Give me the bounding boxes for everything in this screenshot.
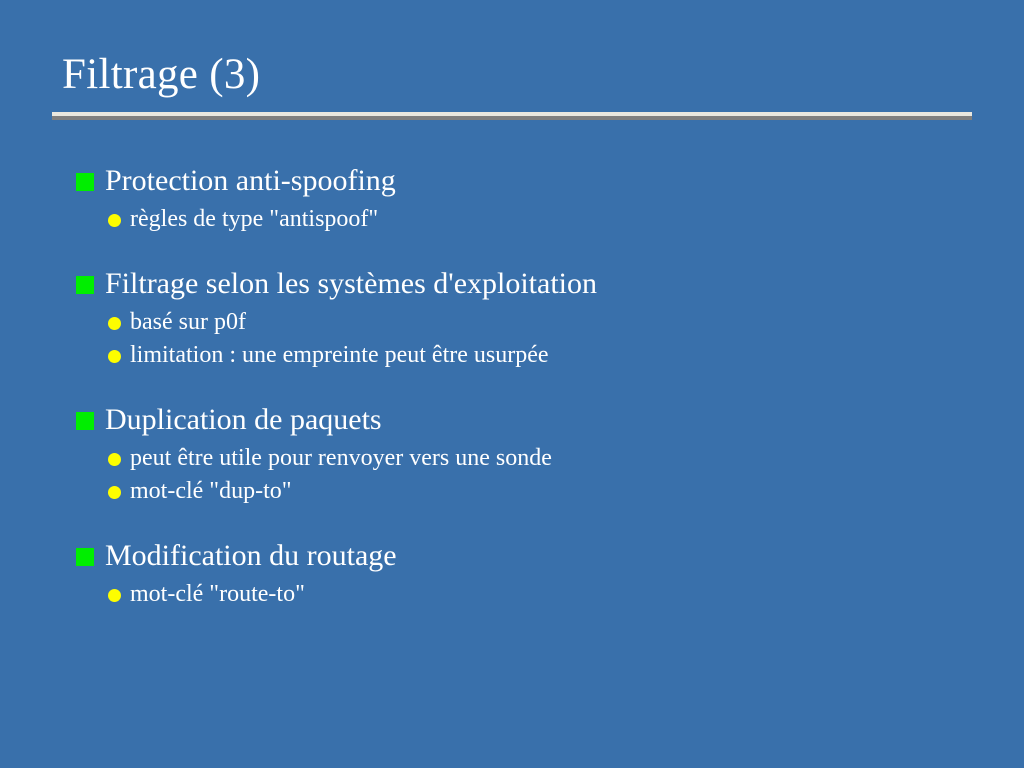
yellow-dot-bullet-icon xyxy=(108,453,121,466)
yellow-dot-bullet-icon xyxy=(108,589,121,602)
level2-bullet-item: règles de type "antispoof" xyxy=(76,203,996,236)
level1-bullet-label: Duplication de paquets xyxy=(105,399,382,440)
level2-bullet-list: règles de type "antispoof" xyxy=(76,203,996,236)
slide-content: Protection anti-spoofing règles de type … xyxy=(76,160,996,611)
presentation-slide: Filtrage (3) Protection anti-spoofing rè… xyxy=(0,0,1024,768)
title-divider xyxy=(52,112,972,120)
level2-bullet-item: mot-clé "dup-to" xyxy=(76,475,996,508)
green-square-bullet-icon xyxy=(76,276,94,294)
bullet-group: Modification du routage mot-clé "route-t… xyxy=(76,535,996,611)
yellow-dot-bullet-icon xyxy=(108,214,121,227)
yellow-dot-bullet-icon xyxy=(108,486,121,499)
level1-bullet-label: Protection anti-spoofing xyxy=(105,160,396,201)
level1-bullet-item: Duplication de paquets xyxy=(76,399,996,440)
level2-bullet-label: mot-clé "dup-to" xyxy=(130,475,292,508)
level2-bullet-item: peut être utile pour renvoyer vers une s… xyxy=(76,442,996,475)
level1-bullet-item: Modification du routage xyxy=(76,535,996,576)
green-square-bullet-icon xyxy=(76,173,94,191)
green-square-bullet-icon xyxy=(76,412,94,430)
level2-bullet-label: limitation : une empreinte peut être usu… xyxy=(130,339,549,372)
level2-bullet-label: mot-clé "route-to" xyxy=(130,578,305,611)
bullet-group: Duplication de paquets peut être utile p… xyxy=(76,399,996,508)
level2-bullet-list: mot-clé "route-to" xyxy=(76,578,996,611)
level2-bullet-list: basé sur p0f limitation : une empreinte … xyxy=(76,306,996,372)
bullet-group: Filtrage selon les systèmes d'exploitati… xyxy=(76,263,996,372)
level2-bullet-label: règles de type "antispoof" xyxy=(130,203,378,236)
level2-bullet-label: peut être utile pour renvoyer vers une s… xyxy=(130,442,552,475)
page-title: Filtrage (3) xyxy=(52,48,972,102)
yellow-dot-bullet-icon xyxy=(108,350,121,363)
level1-bullet-label: Filtrage selon les systèmes d'exploitati… xyxy=(105,263,597,304)
bullet-group: Protection anti-spoofing règles de type … xyxy=(76,160,996,236)
yellow-dot-bullet-icon xyxy=(108,317,121,330)
title-divider-shadow xyxy=(52,116,972,120)
level1-bullet-item: Filtrage selon les systèmes d'exploitati… xyxy=(76,263,996,304)
green-square-bullet-icon xyxy=(76,548,94,566)
level1-bullet-item: Protection anti-spoofing xyxy=(76,160,996,201)
slide-title-block: Filtrage (3) xyxy=(52,48,972,102)
level2-bullet-label: basé sur p0f xyxy=(130,306,246,339)
level1-bullet-label: Modification du routage xyxy=(105,535,397,576)
level2-bullet-list: peut être utile pour renvoyer vers une s… xyxy=(76,442,996,508)
level2-bullet-item: limitation : une empreinte peut être usu… xyxy=(76,339,996,372)
level2-bullet-item: mot-clé "route-to" xyxy=(76,578,996,611)
level2-bullet-item: basé sur p0f xyxy=(76,306,996,339)
